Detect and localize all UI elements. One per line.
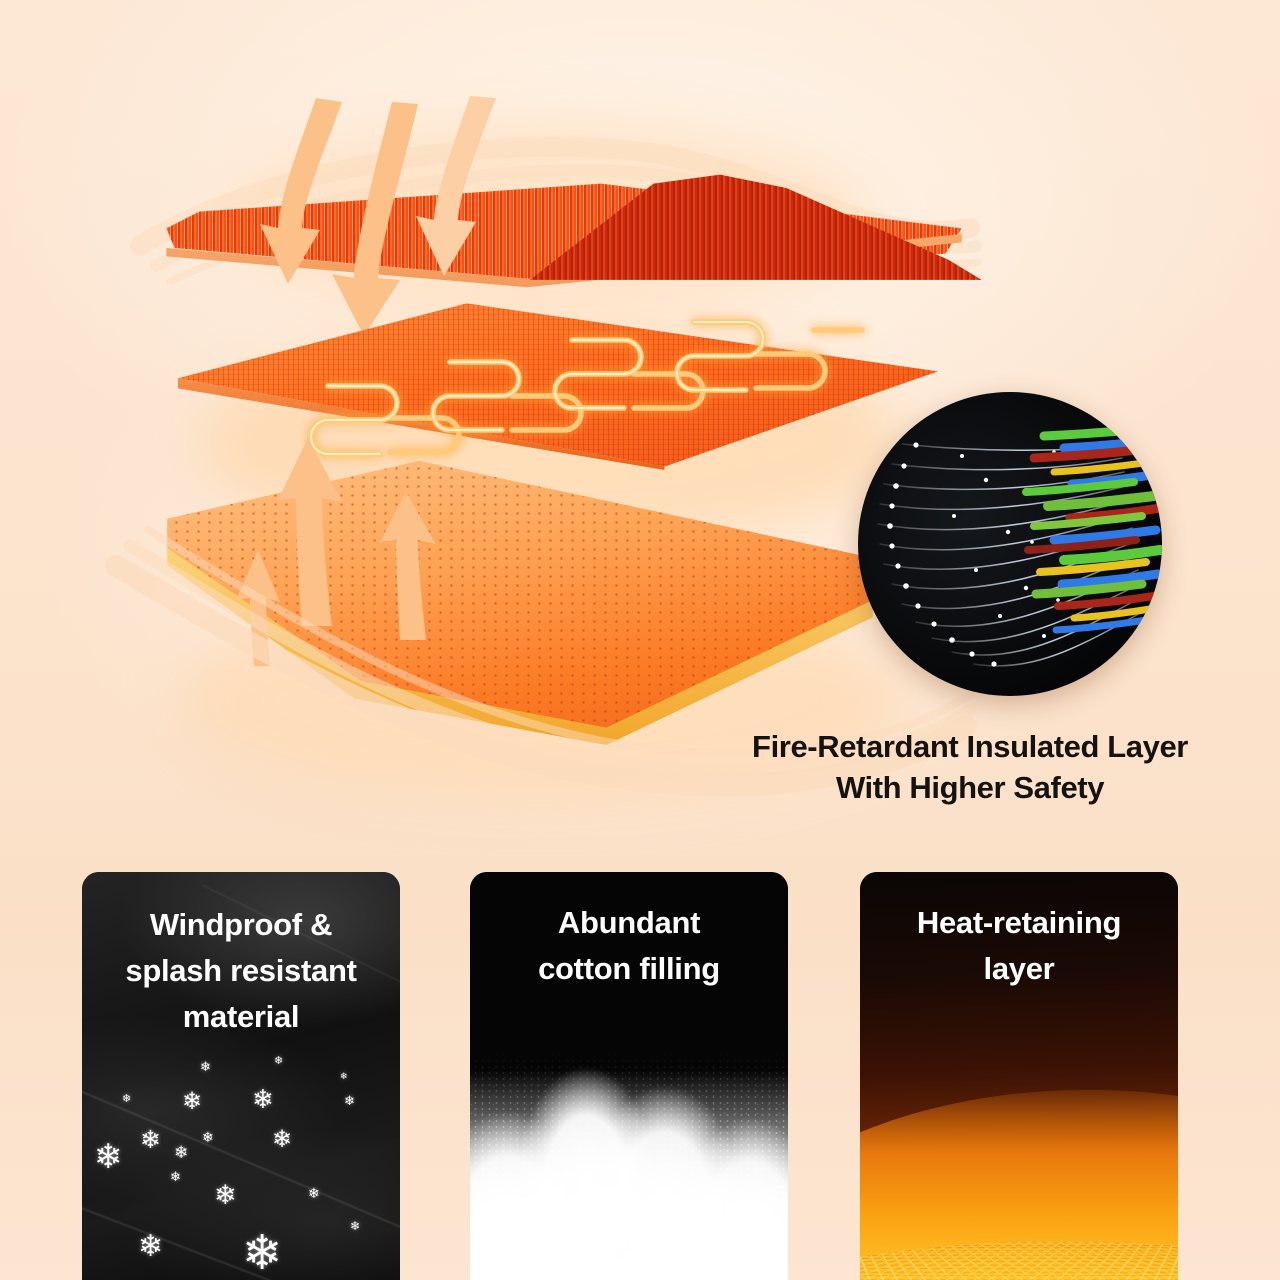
- snowflake-icon: ❄: [274, 1056, 283, 1067]
- snowflake-icon: ❄: [122, 1094, 131, 1105]
- fiber-optic-detail-circle: [858, 392, 1162, 696]
- hero-caption: Fire-Retardant Insulated Layer With High…: [640, 726, 1280, 808]
- card-title-line: Heat-retaining: [870, 900, 1168, 946]
- feature-card-heat-retaining[interactable]: Heat-retaining layer: [860, 872, 1178, 1280]
- feature-card-row: ❄ ❄ ❄ ❄ ❄ ❄ ❄ ❄ ❄ ❄ ❄ ❄ ❄ ❄ ❄ ❄ ❄ ❄ Wind…: [0, 872, 1280, 1280]
- bottom-perforated-insulation-layer: [160, 455, 880, 745]
- card-title-cotton: Abundant cotton filling: [470, 900, 788, 992]
- snowflake-icon: ❄: [170, 1170, 181, 1183]
- snowflake-icon: ❄: [344, 1094, 355, 1107]
- card-title-heat-retaining: Heat-retaining layer: [860, 900, 1178, 992]
- snowflake-icon: ❄: [272, 1128, 292, 1152]
- fiber-strands-illustration: [858, 392, 1162, 696]
- hero-caption-line-2: With Higher Safety: [640, 767, 1280, 808]
- snowflake-icon: ❄: [252, 1086, 274, 1112]
- snowflake-icon: ❄: [242, 1230, 282, 1278]
- snowflake-icon: ❄: [138, 1232, 163, 1262]
- card-title-line: Windproof &: [92, 902, 390, 948]
- snowflake-icon: ❄: [340, 1072, 348, 1081]
- snowflake-icon: ❄: [182, 1090, 202, 1114]
- feature-card-cotton-filling[interactable]: Abundant cotton filling: [470, 872, 788, 1280]
- card-title-windproof: Windproof & splash resistant material: [82, 902, 400, 1040]
- snowflake-icon: ❄: [308, 1186, 320, 1200]
- snowflake-icon: ❄: [202, 1130, 214, 1144]
- card-title-line: splash resistant: [92, 948, 390, 994]
- card-title-line: cotton filling: [480, 946, 778, 992]
- feature-card-windproof[interactable]: ❄ ❄ ❄ ❄ ❄ ❄ ❄ ❄ ❄ ❄ ❄ ❄ ❄ ❄ ❄ ❄ ❄ ❄ Wind…: [82, 872, 400, 1280]
- heating-coil-traces: [178, 300, 938, 470]
- top-striped-fabric-layer: [150, 150, 970, 290]
- card-title-line: Abundant: [480, 900, 778, 946]
- snowflake-icon: ❄: [94, 1140, 123, 1174]
- insulation-perforation-pattern: [160, 455, 880, 745]
- snowflake-icon: ❄: [174, 1144, 188, 1161]
- snowflake-icon: ❄: [140, 1128, 161, 1153]
- cotton-fuzz-texture: [470, 1052, 788, 1280]
- card-title-line: material: [92, 994, 390, 1040]
- exploded-layer-diagram: Fire-Retardant Insulated Layer With High…: [0, 0, 1280, 866]
- snowflake-icon: ❄: [350, 1220, 360, 1232]
- hero-caption-line-1: Fire-Retardant Insulated Layer: [640, 726, 1280, 767]
- honeycomb-glow: [860, 1182, 1178, 1280]
- middle-heating-element-layer: [178, 300, 938, 470]
- card-title-line: layer: [870, 946, 1168, 992]
- snowflake-icon: ❄: [200, 1060, 211, 1073]
- snowflake-icon: ❄: [214, 1182, 237, 1209]
